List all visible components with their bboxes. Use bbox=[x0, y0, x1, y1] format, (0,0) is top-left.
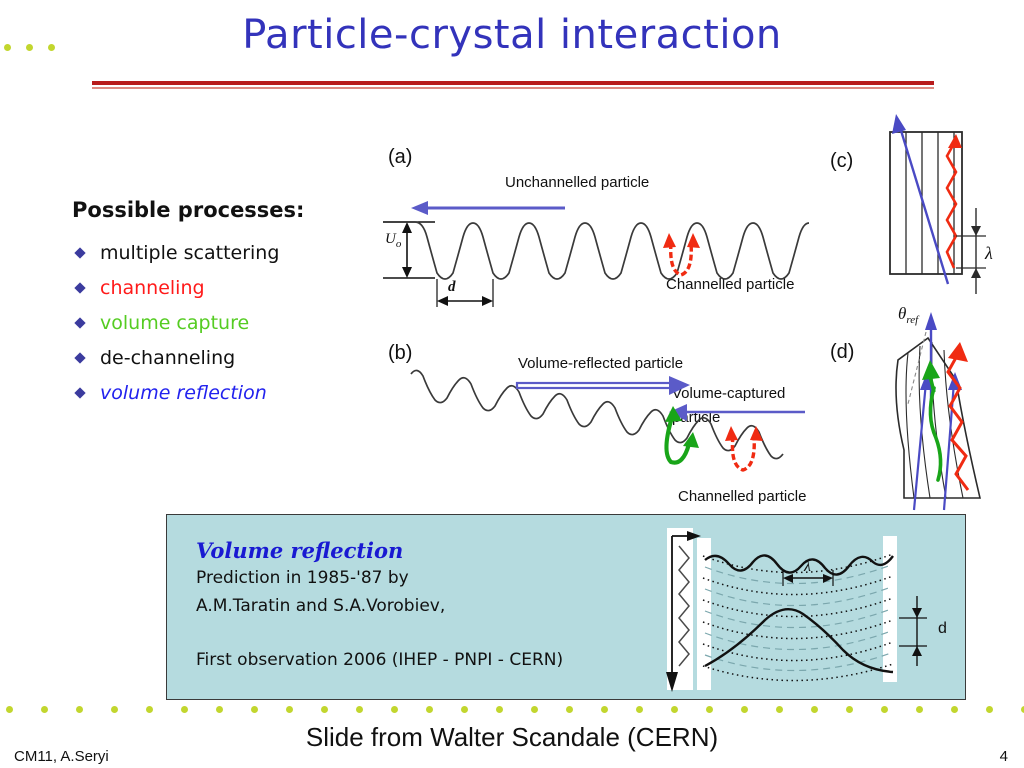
panel-d-bent-crystal-diagram bbox=[868, 320, 1018, 510]
bullet-diamond-icon bbox=[74, 352, 85, 363]
decorative-dot bbox=[251, 706, 258, 713]
decorative-dot bbox=[636, 706, 643, 713]
crossing-particle-arrow-icon bbox=[892, 114, 948, 284]
decorative-dot bbox=[356, 706, 363, 713]
footer-page-number: 4 bbox=[1000, 748, 1008, 765]
decorative-dot bbox=[111, 706, 118, 713]
d-dimension-arrow bbox=[899, 596, 927, 666]
decorative-dot bbox=[601, 706, 608, 713]
d-dimension-arrow bbox=[437, 296, 493, 306]
bullet-diamond-icon bbox=[74, 387, 85, 398]
decorative-dot bbox=[811, 706, 818, 713]
inset-bent-crystal-channel-diagram bbox=[655, 520, 965, 700]
title-rule-secondary bbox=[92, 87, 934, 89]
panel-label-c: (c) bbox=[830, 150, 853, 173]
decorative-dot bbox=[566, 706, 573, 713]
panel-label-a: (a) bbox=[388, 146, 412, 169]
decorative-dots-top bbox=[4, 44, 64, 54]
decorative-dots-bottom bbox=[0, 706, 1024, 716]
processes-heading: Possible processes: bbox=[72, 198, 304, 222]
decorative-dot bbox=[146, 706, 153, 713]
decorative-dot bbox=[706, 706, 713, 713]
decorative-dot bbox=[216, 706, 223, 713]
decorative-dot bbox=[181, 706, 188, 713]
volume-reflected-arrow-icon bbox=[517, 376, 690, 395]
unchannelled-arrow-icon bbox=[411, 201, 565, 215]
process-label: multiple scattering bbox=[100, 242, 279, 264]
process-label: channeling bbox=[100, 277, 205, 299]
decorative-dot bbox=[496, 706, 503, 713]
volume-captured-arrow-icon bbox=[669, 404, 805, 421]
title-rule-primary bbox=[92, 81, 934, 85]
decorative-dot bbox=[916, 706, 923, 713]
decorative-dot bbox=[986, 706, 993, 713]
decorative-dot bbox=[391, 706, 398, 713]
bullet-diamond-icon bbox=[74, 317, 85, 328]
volume-reflection-observation: First observation 2006 (IHEP - PNPI - CE… bbox=[196, 650, 563, 670]
panel-b-potential-diagram bbox=[405, 362, 805, 497]
decorative-dot bbox=[846, 706, 853, 713]
decorative-dot bbox=[26, 44, 33, 51]
decorative-dot bbox=[461, 706, 468, 713]
process-label: volume capture bbox=[100, 312, 249, 334]
decorative-dot bbox=[76, 706, 83, 713]
decorative-dot bbox=[951, 706, 958, 713]
decorative-dot bbox=[286, 706, 293, 713]
channelled-trajectory-path bbox=[705, 609, 893, 672]
bullet-diamond-icon bbox=[74, 247, 85, 258]
decorative-dot bbox=[881, 706, 888, 713]
decorative-dot bbox=[48, 44, 55, 51]
lambda-dimension-arrow bbox=[971, 208, 981, 294]
decorative-dot bbox=[6, 706, 13, 713]
volume-reflection-title: Volume reflection bbox=[196, 538, 403, 563]
volume-reflection-line-1: Prediction in 1985-'87 by bbox=[196, 568, 409, 588]
decorative-dot bbox=[776, 706, 783, 713]
decorative-dot bbox=[321, 706, 328, 713]
bullet-diamond-icon bbox=[74, 282, 85, 293]
decorative-dot bbox=[41, 706, 48, 713]
decorative-dot bbox=[531, 706, 538, 713]
page-title: Particle-crystal interaction bbox=[0, 12, 1024, 58]
process-label: volume reflection bbox=[100, 382, 267, 404]
panel-c-straight-crystal-diagram bbox=[868, 112, 1018, 297]
slide-credit: Slide from Walter Scandale (CERN) bbox=[0, 722, 1024, 753]
volume-reflection-line-2: A.M.Taratin and S.A.Vorobiev, bbox=[196, 596, 445, 616]
panel-label-d: (d) bbox=[830, 341, 854, 364]
decorative-dot bbox=[671, 706, 678, 713]
decorative-dot bbox=[741, 706, 748, 713]
decorative-dot bbox=[426, 706, 433, 713]
decorative-dot bbox=[4, 44, 11, 51]
panel-a-potential-diagram bbox=[375, 195, 835, 310]
panel-a-caption-unchannelled: Unchannelled particle bbox=[505, 174, 649, 191]
footer-meeting-author: CM11, A.Seryi bbox=[14, 748, 109, 765]
atomic-planes-faint bbox=[705, 565, 891, 671]
u0-dimension-arrow bbox=[402, 222, 412, 278]
process-label: de-channeling bbox=[100, 347, 235, 369]
